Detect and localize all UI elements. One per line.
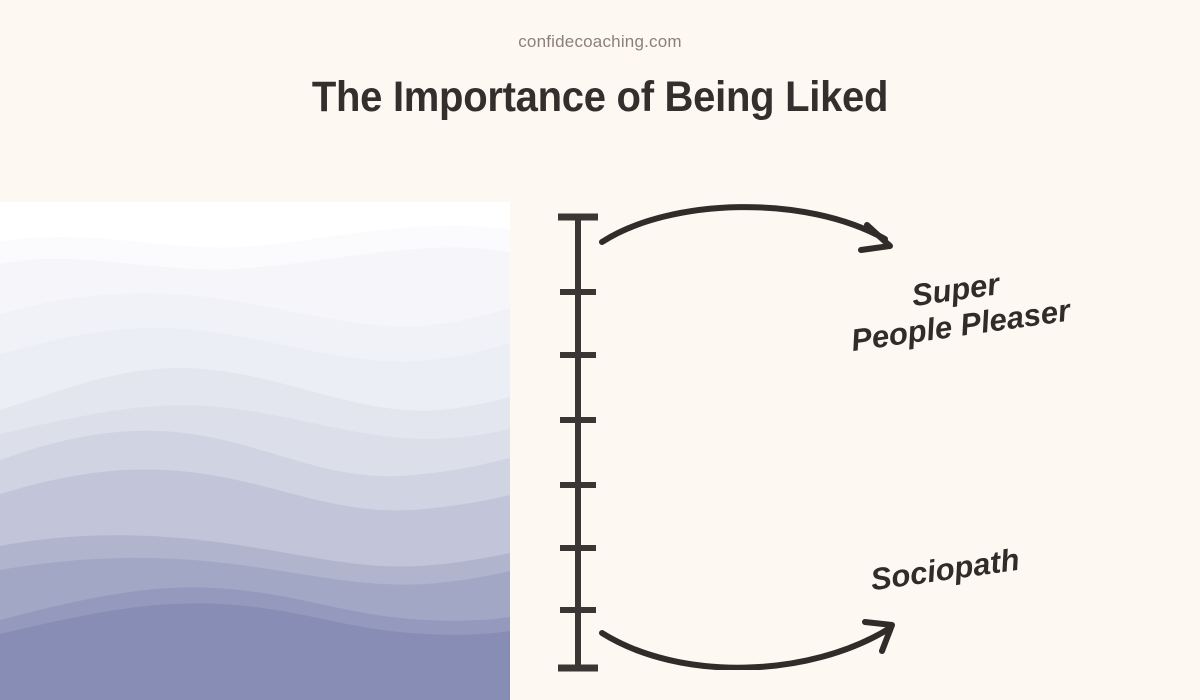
- layered-waves-illustration: [0, 202, 510, 700]
- arrow-to-sociopath: [602, 628, 890, 668]
- page-title: The Importance of Being Liked: [42, 73, 1158, 122]
- slide-canvas: confidecoaching.com The Importance of Be…: [0, 0, 1200, 700]
- arrow-to-super-people-pleaser: [602, 207, 885, 242]
- diagram-arrows: [560, 190, 960, 670]
- site-url: confidecoaching.com: [0, 32, 1200, 52]
